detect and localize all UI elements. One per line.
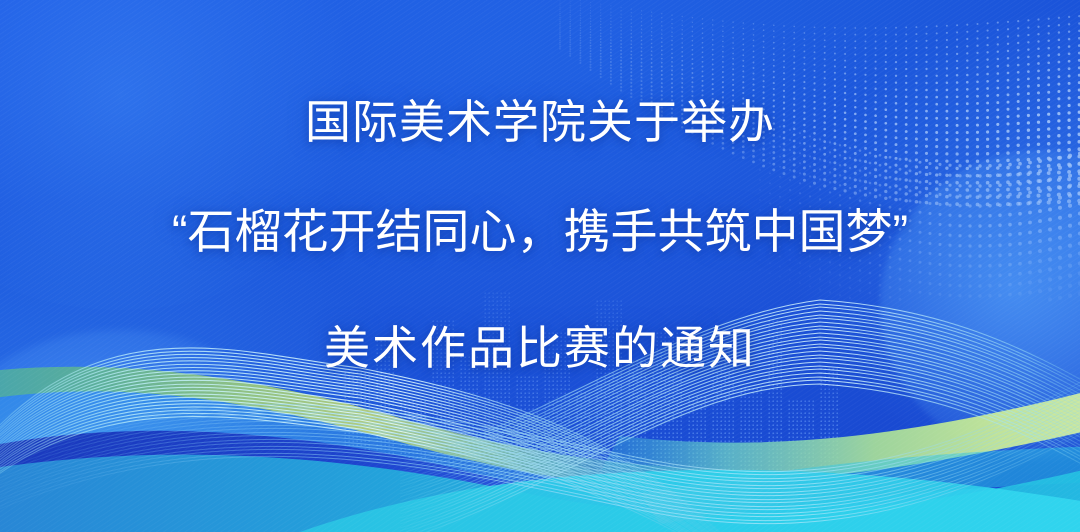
glow-blob-top-left: [0, 0, 380, 310]
glow-blob-right: [880, 150, 1080, 460]
headline-line-3: 美术作品比赛的通知: [0, 322, 1080, 374]
headline-line-2: “石榴花开结同心，携手共筑中国梦”: [0, 206, 1080, 258]
headline-line-1: 国际美术学院关于举办: [0, 96, 1080, 148]
announcement-banner: 国际美术学院关于举办 “石榴花开结同心，携手共筑中国梦” 美术作品比赛的通知: [0, 0, 1080, 532]
